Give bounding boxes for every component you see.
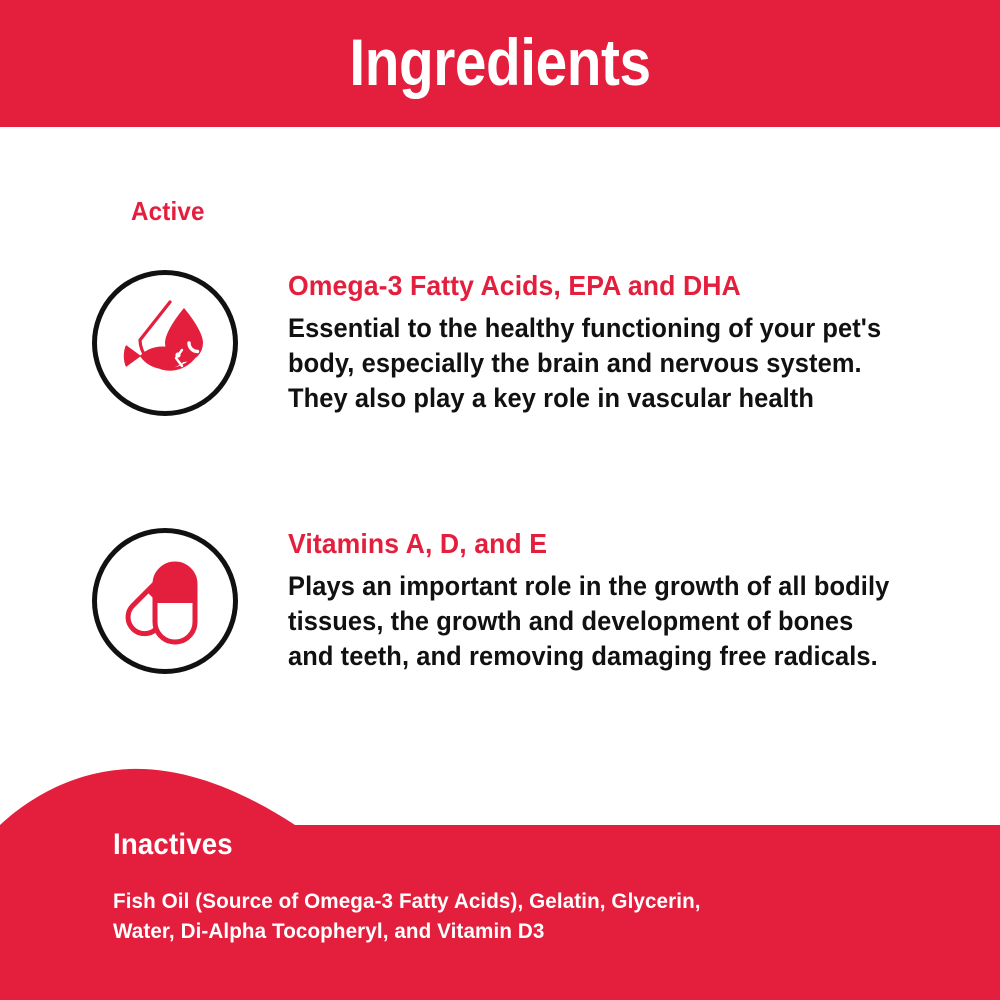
description-line: Plays an important role in the growth of… — [288, 569, 922, 604]
inactives-line: Fish Oil (Source of Omega-3 Fatty Acids)… — [113, 886, 843, 916]
ingredient-description: Essential to the healthy functioning of … — [288, 311, 922, 416]
ingredient-text-omega3: Omega-3 Fatty Acids, EPA and DHA Essenti… — [288, 270, 948, 416]
description-line: and teeth, and removing damaging free ra… — [288, 639, 922, 674]
description-line: body, especially the brain and nervous s… — [288, 346, 922, 381]
description-line: They also play a key role in vascular he… — [288, 381, 922, 416]
active-section-label: Active — [131, 196, 205, 227]
description-line: tissues, the growth and development of b… — [288, 604, 922, 639]
ingredients-infographic: Ingredients Active Omeg — [0, 0, 1000, 1000]
ingredient-title: Omega-3 Fatty Acids, EPA and DHA — [288, 270, 915, 302]
capsules-pills-icon — [92, 528, 238, 674]
page-title: Ingredients — [70, 22, 930, 102]
fish-oil-droplet-icon — [92, 270, 238, 416]
ingredient-title: Vitamins A, D, and E — [288, 528, 915, 560]
ingredient-text-vitamins: Vitamins A, D, and E Plays an important … — [288, 528, 948, 674]
ingredient-description: Plays an important role in the growth of… — [288, 569, 922, 674]
description-line: Essential to the healthy functioning of … — [288, 311, 922, 346]
header-banner: Ingredients — [0, 0, 1000, 127]
inactives-body: Fish Oil (Source of Omega-3 Fatty Acids)… — [113, 886, 843, 946]
inactives-banner — [0, 755, 1000, 1000]
inactives-line: Water, Di-Alpha Tocopheryl, and Vitamin … — [113, 916, 843, 946]
inactives-heading: Inactives — [113, 828, 233, 862]
